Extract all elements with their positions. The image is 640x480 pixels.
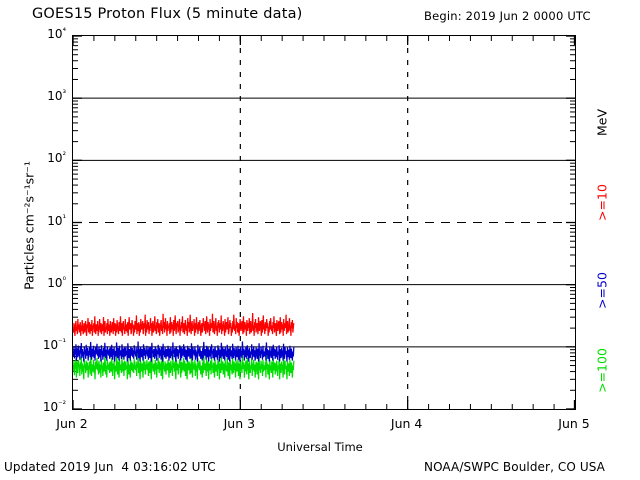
x-axis-label: Universal Time xyxy=(0,440,640,454)
y-tick-label: 10² xyxy=(47,151,66,165)
legend-item: >=100 xyxy=(595,301,610,441)
y-tick-label: 10⁴ xyxy=(47,27,66,41)
y-tick-label: 10¹ xyxy=(47,214,66,228)
y-tick-label: 10³ xyxy=(47,89,66,103)
x-tick-label: Jun 4 xyxy=(367,416,447,431)
series-line xyxy=(73,313,294,336)
plot-area xyxy=(72,35,576,410)
y-tick-label: 10⁻¹ xyxy=(43,338,66,352)
x-tick-label: Jun 3 xyxy=(199,416,279,431)
flux-plot-svg xyxy=(73,36,575,409)
x-tick-label: Jun 2 xyxy=(32,416,112,431)
chart-title: GOES15 Proton Flux (5 minute data) xyxy=(32,6,303,22)
y-tick-label: 10⁻² xyxy=(43,400,66,414)
y-axis-label: Particles cm⁻²s⁻¹sr⁻¹ xyxy=(22,111,37,341)
y-tick-label: 10⁰ xyxy=(47,276,66,290)
begin-time-label: Begin: 2019 Jun 2 0000 UTC xyxy=(424,9,591,23)
chart-page: GOES15 Proton Flux (5 minute data) Begin… xyxy=(0,0,640,480)
source-credit: NOAA/SWPC Boulder, CO USA xyxy=(424,460,605,474)
updated-timestamp: Updated 2019 Jun 4 03:16:02 UTC xyxy=(4,460,216,474)
